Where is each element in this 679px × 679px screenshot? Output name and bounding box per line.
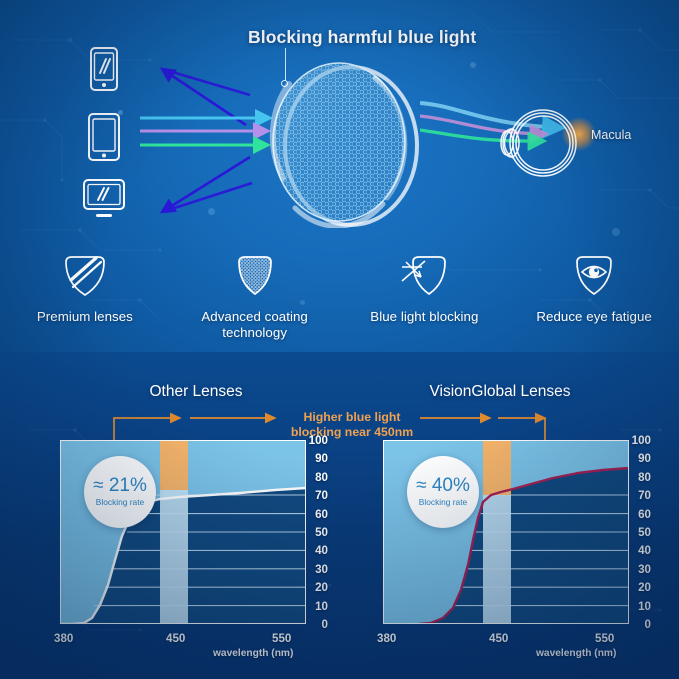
vignette-overlay [0,0,679,679]
